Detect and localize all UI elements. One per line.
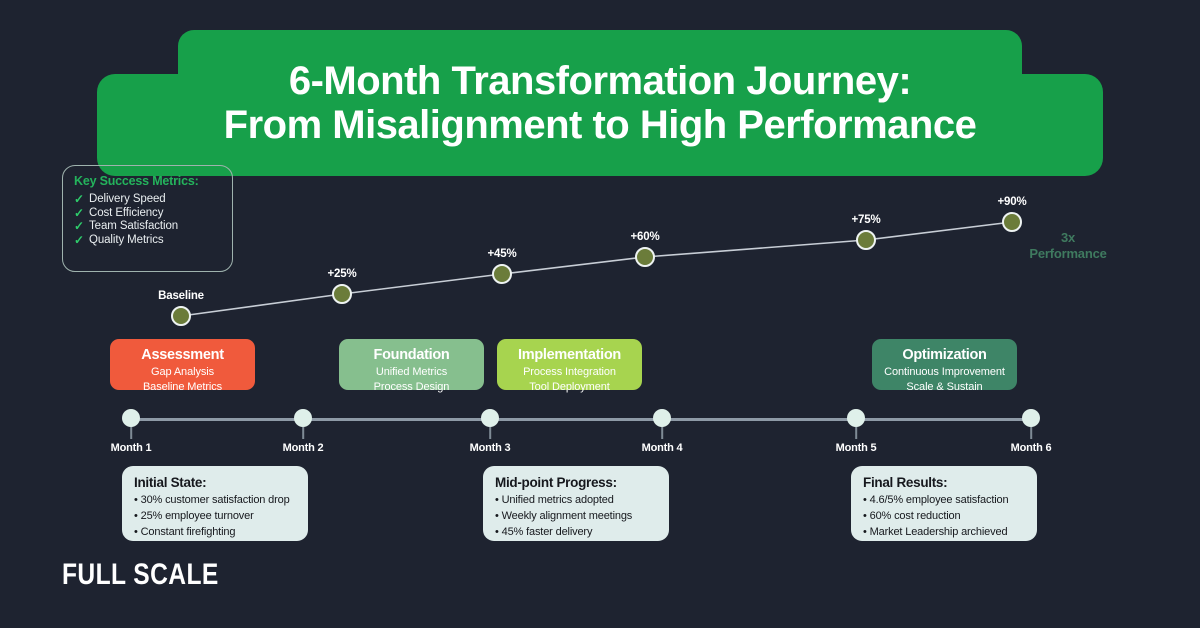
detail-box: Final Results:• 4.6/5% employee satisfac… bbox=[851, 466, 1037, 541]
progress-marker-label: +75% bbox=[852, 214, 881, 226]
timeline-node[interactable] bbox=[1022, 409, 1040, 427]
phase-card-detail-2: Tool Deployment bbox=[497, 380, 642, 395]
phase-card-detail-1: Process Integration bbox=[497, 365, 642, 380]
phase-card-detail-2: Scale & Sustain bbox=[872, 380, 1017, 395]
timeline-axis bbox=[131, 418, 1031, 421]
detail-box-item: • 60% cost reduction bbox=[863, 509, 1025, 525]
detail-box-title: Final Results: bbox=[863, 475, 1025, 490]
progress-marker[interactable] bbox=[635, 247, 655, 267]
timeline-month-label: Month 2 bbox=[283, 442, 324, 454]
banner-text-group: 6-Month Transformation Journey: From Mis… bbox=[97, 30, 1103, 176]
progress-marker[interactable] bbox=[332, 284, 352, 304]
phase-card[interactable]: ImplementationProcess IntegrationTool De… bbox=[497, 339, 642, 390]
detail-box: Mid-point Progress:• Unified metrics ado… bbox=[483, 466, 669, 541]
timeline-tick bbox=[855, 427, 857, 439]
progress-marker[interactable] bbox=[492, 264, 512, 284]
timeline-node[interactable] bbox=[481, 409, 499, 427]
detail-box: Initial State:• 30% customer satisfactio… bbox=[122, 466, 308, 541]
progress-marker[interactable] bbox=[171, 306, 191, 326]
detail-box-item: • 30% customer satisfaction drop bbox=[134, 493, 296, 509]
timeline-tick bbox=[489, 427, 491, 439]
detail-box-item: • Market Leadership archieved bbox=[863, 525, 1025, 541]
timeline-node[interactable] bbox=[653, 409, 671, 427]
banner-title-line-2: From Misalignment to High Performance bbox=[224, 104, 977, 146]
timeline-tick bbox=[661, 427, 663, 439]
progress-marker[interactable] bbox=[1002, 212, 1022, 232]
performance-annotation: 3x Performance bbox=[1029, 230, 1106, 263]
timeline-tick bbox=[302, 427, 304, 439]
timeline-month-label: Month 1 bbox=[111, 442, 152, 454]
detail-box-title: Mid-point Progress: bbox=[495, 475, 657, 490]
phase-card-title: Assessment bbox=[110, 347, 255, 363]
detail-box-item: • Constant firefighting bbox=[134, 525, 296, 541]
progress-marker-label: +90% bbox=[998, 196, 1027, 208]
timeline-month-label: Month 5 bbox=[836, 442, 877, 454]
detail-box-title: Initial State: bbox=[134, 475, 296, 490]
timeline-tick bbox=[130, 427, 132, 439]
phase-card-detail-1: Continuous Improvement bbox=[872, 365, 1017, 380]
infographic-canvas: 6-Month Transformation Journey: From Mis… bbox=[0, 0, 1200, 628]
timeline-node[interactable] bbox=[122, 409, 140, 427]
phase-card-detail-1: Unified Metrics bbox=[339, 365, 484, 380]
detail-box-item: • Unified metrics adopted bbox=[495, 493, 657, 509]
phase-card-title: Optimization bbox=[872, 347, 1017, 363]
timeline-node[interactable] bbox=[294, 409, 312, 427]
detail-box-item: • Weekly alignment meetings bbox=[495, 509, 657, 525]
performance-annotation-line-2: Performance bbox=[1029, 246, 1106, 262]
detail-box-item: • 4.6/5% employee satisfaction bbox=[863, 493, 1025, 509]
phase-card-detail-2: Process Design bbox=[339, 380, 484, 395]
phase-card-title: Implementation bbox=[497, 347, 642, 363]
timeline-month-label: Month 6 bbox=[1011, 442, 1052, 454]
progress-marker-label: +60% bbox=[631, 231, 660, 243]
timeline-month-label: Month 3 bbox=[470, 442, 511, 454]
phase-card-detail-1: Gap Analysis bbox=[110, 365, 255, 380]
phase-card-detail-2: Baseline Metrics bbox=[110, 380, 255, 395]
progress-marker-label: Baseline bbox=[158, 290, 204, 302]
title-banner: 6-Month Transformation Journey: From Mis… bbox=[0, 30, 1200, 146]
timeline-tick bbox=[1030, 427, 1032, 439]
progress-marker-label: +25% bbox=[328, 268, 357, 280]
banner-title-line-1: 6-Month Transformation Journey: bbox=[289, 60, 911, 102]
timeline-node[interactable] bbox=[847, 409, 865, 427]
progress-marker[interactable] bbox=[856, 230, 876, 250]
full-scale-logo: FULL SCALE bbox=[62, 558, 219, 592]
phase-card[interactable]: FoundationUnified MetricsProcess Design bbox=[339, 339, 484, 390]
phase-card[interactable]: OptimizationContinuous ImprovementScale … bbox=[872, 339, 1017, 390]
detail-box-item: • 45% faster delivery bbox=[495, 525, 657, 541]
progress-marker-label: +45% bbox=[488, 248, 517, 260]
phase-card-title: Foundation bbox=[339, 347, 484, 363]
detail-box-item: • 25% employee turnover bbox=[134, 509, 296, 525]
phase-card[interactable]: AssessmentGap AnalysisBaseline Metrics bbox=[110, 339, 255, 390]
timeline-month-label: Month 4 bbox=[642, 442, 683, 454]
performance-annotation-line-1: 3x bbox=[1029, 230, 1106, 246]
